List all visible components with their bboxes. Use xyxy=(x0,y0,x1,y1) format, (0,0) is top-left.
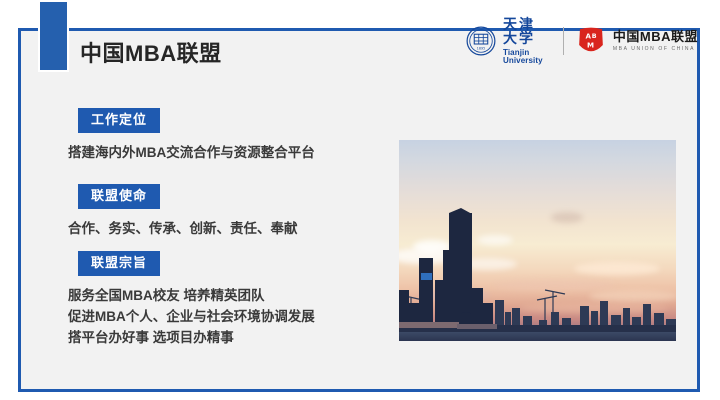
mba-union-name-cn: 中国MBA联盟 xyxy=(613,30,698,43)
section-alliance-purpose: 联盟宗旨 服务全国MBA校友 培养精英团队 促进MBA个人、企业与社会环境协调发… xyxy=(68,251,315,348)
accent-bar xyxy=(38,0,69,72)
logo-group: 1895 天津大学 Tianjin University A B M 中国MBA… xyxy=(466,18,698,64)
svg-text:B: B xyxy=(592,33,597,40)
tju-name-en: Tianjin University xyxy=(503,49,551,65)
skyline-silhouette xyxy=(399,140,676,341)
page-title: 中国MBA联盟 xyxy=(80,36,222,68)
section-body: 合作、务实、传承、创新、责任、奉献 xyxy=(68,218,298,239)
mba-union-name-en: MBA UNION OF CHINA xyxy=(613,47,698,52)
section-body: 服务全国MBA校友 培养精英团队 促进MBA个人、企业与社会环境协调发展 搭平台… xyxy=(68,285,315,348)
section-badge: 联盟使命 xyxy=(78,184,160,209)
body-line: 服务全国MBA校友 培养精英团队 xyxy=(68,285,315,306)
china-mba-union-logo: A B M 中国MBA联盟 MBA UNION OF CHINA xyxy=(575,26,698,56)
tianjin-university-logo: 1895 天津大学 Tianjin University xyxy=(466,18,551,65)
section-work-positioning: 工作定位 搭建海内外MBA交流合作与资源整合平台 xyxy=(68,108,315,163)
body-line: 搭建海内外MBA交流合作与资源整合平台 xyxy=(68,142,315,163)
section-body: 搭建海内外MBA交流合作与资源整合平台 xyxy=(68,142,315,163)
tianjin-university-seal-icon: 1895 xyxy=(466,26,496,56)
waterfront xyxy=(399,332,676,341)
body-line: 合作、务实、传承、创新、责任、奉献 xyxy=(68,218,298,239)
svg-text:1895: 1895 xyxy=(477,46,485,50)
body-line: 搭平台办好事 选项目办精事 xyxy=(68,327,315,348)
city-skyline-sunset-photo xyxy=(399,140,676,341)
section-alliance-mission: 联盟使命 合作、务实、传承、创新、责任、奉献 xyxy=(68,184,298,239)
tju-name-cn: 天津大学 xyxy=(503,18,551,46)
presentation-slide: 中国MBA联盟 1895 天津大学 Tianjin University xyxy=(0,0,720,400)
svg-text:M: M xyxy=(587,40,594,49)
section-badge: 工作定位 xyxy=(78,108,160,133)
logo-divider xyxy=(563,27,564,55)
svg-text:A: A xyxy=(585,32,591,41)
body-line: 促进MBA个人、企业与社会环境协调发展 xyxy=(68,306,315,327)
china-mba-union-seal-icon: A B M xyxy=(575,26,607,56)
section-badge: 联盟宗旨 xyxy=(78,251,160,276)
